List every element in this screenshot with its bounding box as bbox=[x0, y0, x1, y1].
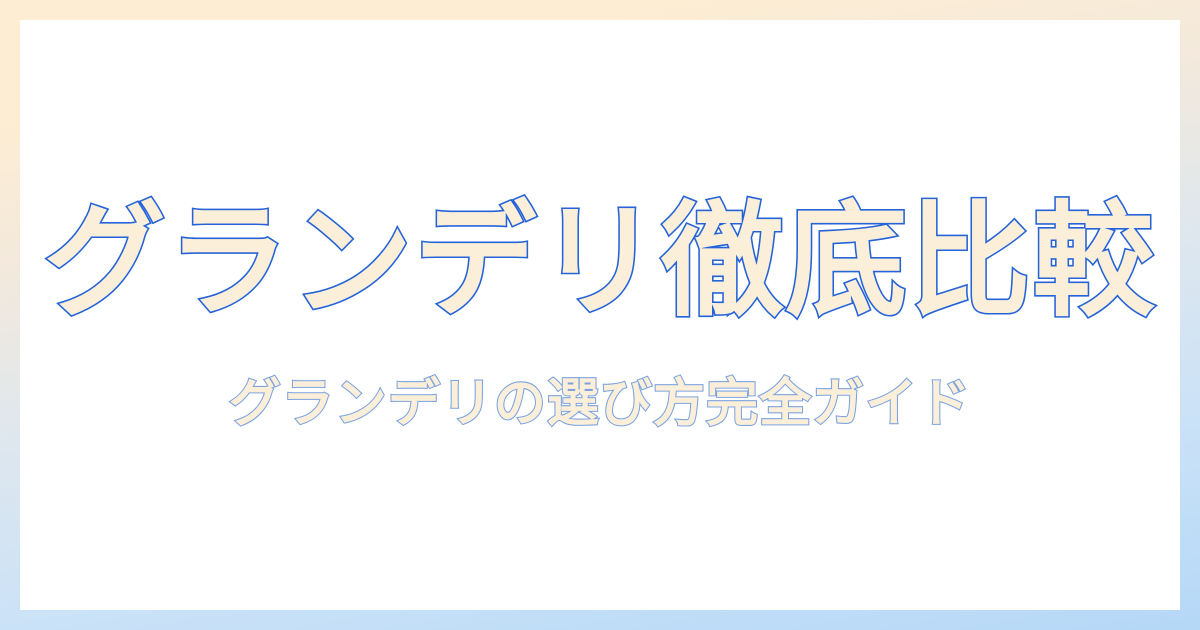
page-subtitle: グランデリの選び方完全ガイド bbox=[229, 376, 972, 433]
page-title: グランデリ徹底比較 bbox=[44, 196, 1156, 330]
ogp-banner-canvas: グランデリ徹底比較 グランデリの選び方完全ガイド bbox=[0, 0, 1200, 630]
white-content-card: グランデリ徹底比較 グランデリの選び方完全ガイド bbox=[20, 20, 1180, 610]
headline-stack: グランデリ徹底比較 グランデリの選び方完全ガイド bbox=[20, 196, 1180, 433]
